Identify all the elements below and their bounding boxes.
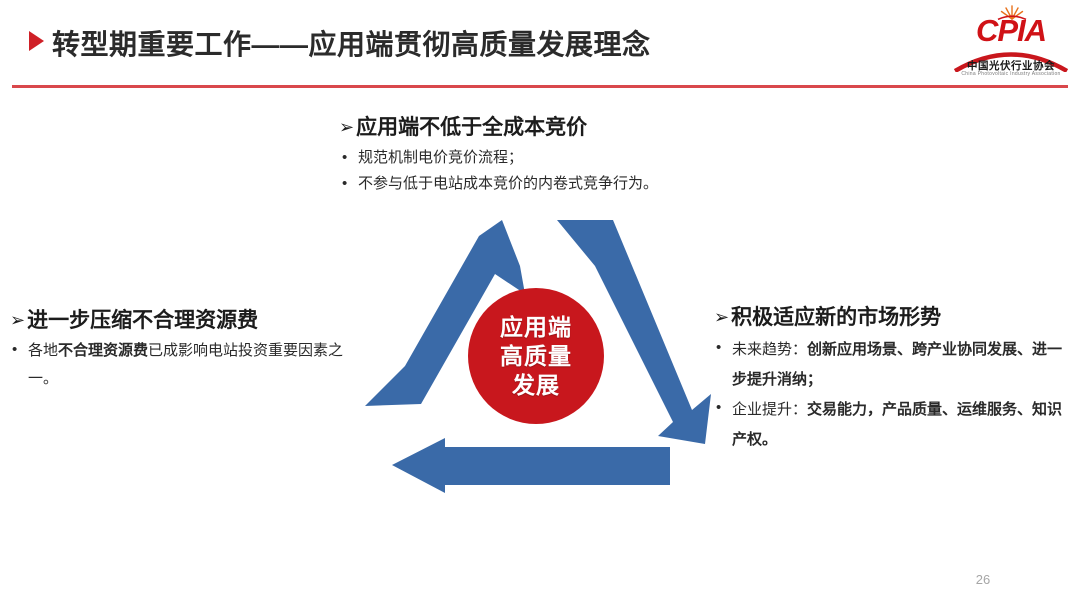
list-item-text: 企业提升：交易能力，产品质量、运维服务、知识产权。 bbox=[732, 395, 1074, 455]
heading-arrow-icon: ➢ bbox=[10, 307, 25, 333]
list-item: • 不参与低于电站成本竞价的内卷式竞争行为。 bbox=[342, 171, 769, 197]
list-item-text: 规范机制电价竞价流程； bbox=[358, 145, 769, 171]
red-triangle-icon bbox=[29, 31, 44, 51]
list-item-text: 不参与低于电站成本竞价的内卷式竞争行为。 bbox=[358, 171, 769, 197]
list-item: • 规范机制电价竞价流程； bbox=[342, 145, 769, 171]
arrow-bottom-icon bbox=[392, 438, 670, 493]
list-item: • 未来趋势：创新应用场景、跨产业协同发展、进一步提升消纳； bbox=[716, 335, 1074, 395]
center-line-3: 发展 bbox=[512, 371, 560, 400]
page-title: 转型期重要工作——应用端贯彻高质量发展理念 bbox=[52, 23, 651, 63]
text-block-top: ➢应用端不低于全成本竞价 • 规范机制电价竞价流程； • 不参与低于电站成本竞价… bbox=[339, 115, 769, 197]
bullet-dot-icon: • bbox=[716, 395, 732, 421]
list-item: • 各地不合理资源费已成影响电站投资重要因素之一。 bbox=[12, 337, 350, 393]
block-right-bullets: • 未来趋势：创新应用场景、跨产业协同发展、进一步提升消纳； • 企业提升：交易… bbox=[716, 335, 1074, 455]
list-item-text: 各地不合理资源费已成影响电站投资重要因素之一。 bbox=[28, 337, 350, 393]
heading-arrow-icon: ➢ bbox=[714, 304, 729, 330]
bullet-dot-icon: • bbox=[342, 171, 358, 197]
bullet-dot-icon: • bbox=[716, 335, 732, 361]
list-item-text: 未来趋势：创新应用场景、跨产业协同发展、进一步提升消纳； bbox=[732, 335, 1074, 395]
center-line-2: 高质量 bbox=[500, 342, 572, 371]
block-left-heading: ➢进一步压缩不合理资源费 bbox=[10, 308, 350, 334]
text-run: 企业提升： bbox=[732, 401, 807, 418]
slide-header: 转型期重要工作——应用端贯彻高质量发展理念 bbox=[0, 0, 1080, 92]
block-left-heading-text: 进一步压缩不合理资源费 bbox=[27, 309, 258, 332]
page-number: 26 bbox=[963, 572, 1003, 587]
list-item: • 企业提升：交易能力，产品质量、运维服务、知识产权。 bbox=[716, 395, 1074, 455]
block-top-heading-text: 应用端不低于全成本竞价 bbox=[356, 116, 587, 139]
header-divider bbox=[12, 85, 1068, 88]
block-top-bullets: • 规范机制电价竞价流程； • 不参与低于电站成本竞价的内卷式竞争行为。 bbox=[342, 145, 769, 197]
text-run-bold: 不合理资源费 bbox=[58, 342, 148, 359]
text-block-left: ➢进一步压缩不合理资源费 • 各地不合理资源费已成影响电站投资重要因素之一。 bbox=[10, 308, 350, 393]
block-top-heading: ➢应用端不低于全成本竞价 bbox=[339, 115, 769, 141]
bullet-dot-icon: • bbox=[342, 145, 358, 171]
heading-arrow-icon: ➢ bbox=[339, 114, 354, 140]
block-right-heading-text: 积极适应新的市场形势 bbox=[731, 306, 941, 329]
logo-english-name: China Photovoltaic Industry Association bbox=[950, 71, 1072, 77]
brand-logo: CPIA 中国光伏行业协会 China Photovoltaic Industr… bbox=[950, 4, 1072, 84]
text-block-right: ➢积极适应新的市场形势 • 未来趋势：创新应用场景、跨产业协同发展、进一步提升消… bbox=[714, 305, 1074, 455]
center-circle-badge: 应用端 高质量 发展 bbox=[468, 288, 604, 424]
block-left-bullets: • 各地不合理资源费已成影响电站投资重要因素之一。 bbox=[12, 337, 350, 393]
bullet-dot-icon: • bbox=[12, 337, 28, 363]
block-right-heading: ➢积极适应新的市场形势 bbox=[714, 305, 1074, 331]
center-line-1: 应用端 bbox=[500, 313, 572, 342]
text-run: 各地 bbox=[28, 342, 58, 359]
text-run: 未来趋势： bbox=[732, 341, 807, 358]
